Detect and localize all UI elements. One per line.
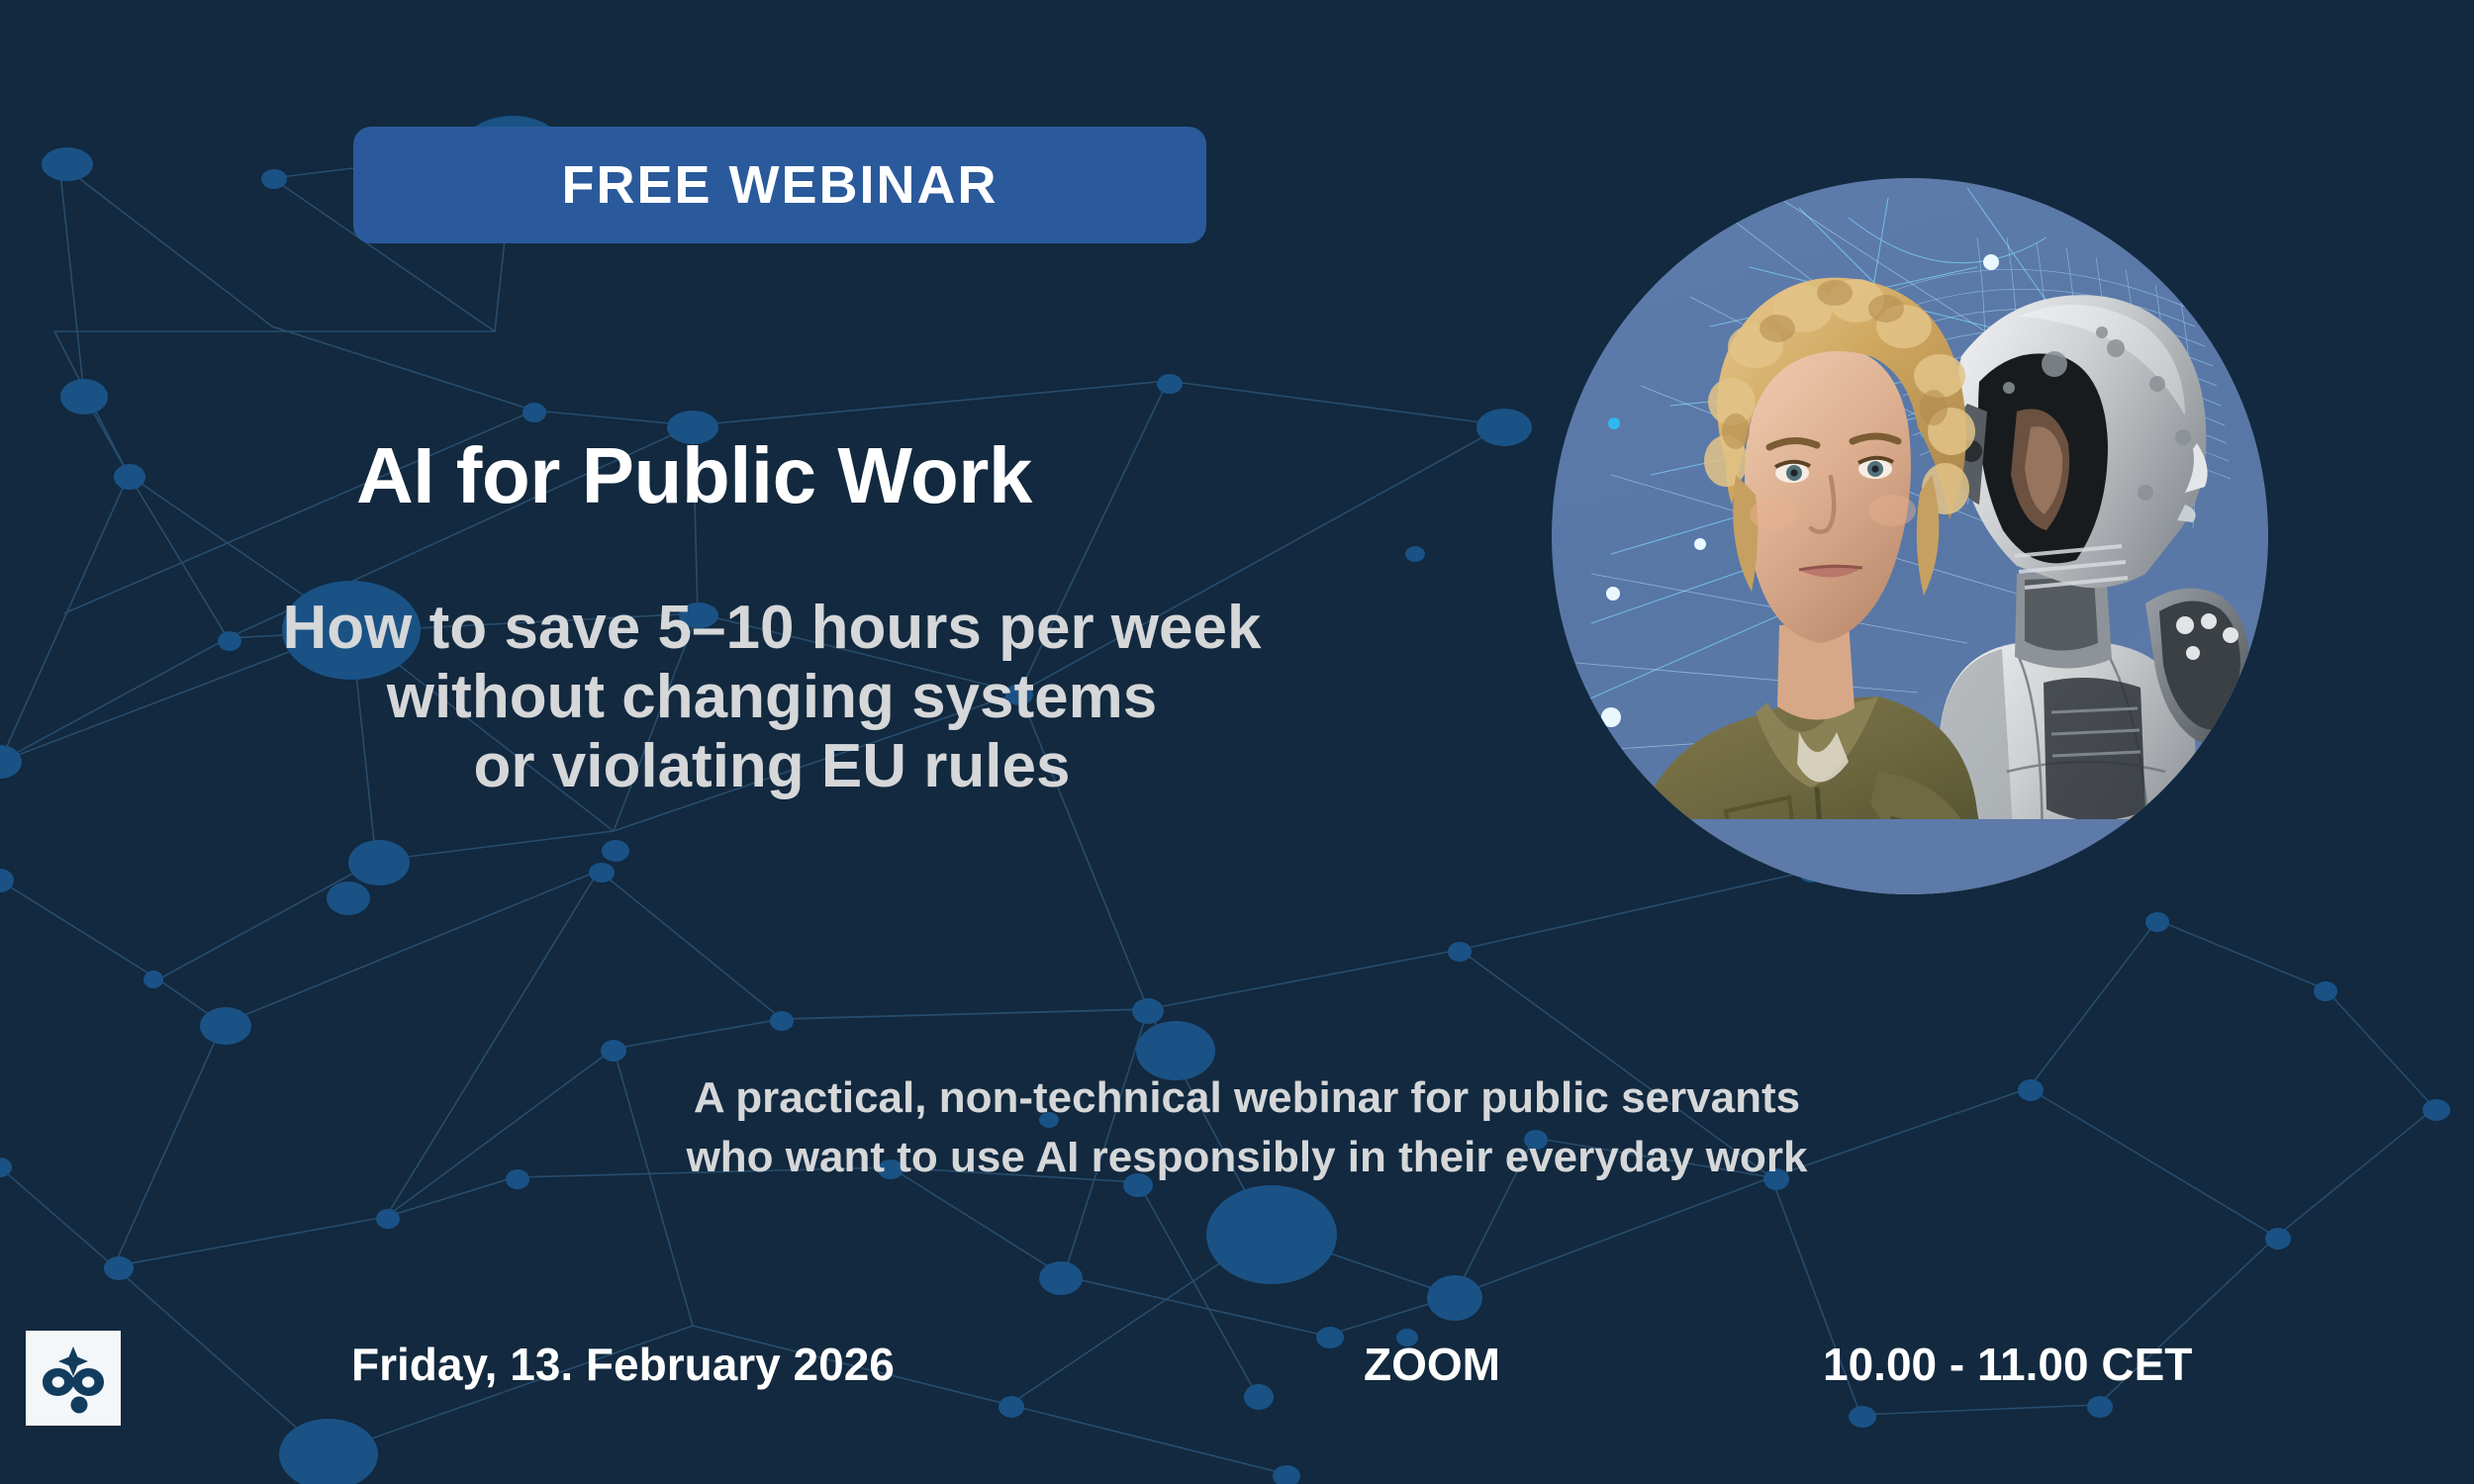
description-line-1: A practical, non-technical webinar for p…	[297, 1068, 2197, 1128]
subtitle-line-2: without changing systems	[119, 663, 1425, 732]
subtitle-line-1: How to save 5–10 hours per week	[119, 594, 1425, 663]
webinar-banner: FREE WEBINAR AI for Public Work How to s…	[0, 0, 2474, 1484]
infinity-sparkle-icon	[36, 1341, 111, 1416]
hero-photo-illustration	[1552, 178, 2268, 894]
webinar-hero-photo	[1552, 178, 2268, 894]
description-block: A practical, non-technical webinar for p…	[297, 1068, 2197, 1188]
subtitle-block: How to save 5–10 hours per week without …	[119, 594, 1425, 801]
description-line-2: who want to use AI responsibly in their …	[297, 1128, 2197, 1187]
event-date: Friday, 13. February 2026	[351, 1338, 895, 1391]
badge-label: FREE WEBINAR	[562, 154, 999, 216]
event-details-footer: Friday, 13. February 2026 ZOOM 10.00 - 1…	[0, 1338, 2474, 1407]
free-webinar-badge[interactable]: FREE WEBINAR	[353, 127, 1206, 243]
event-platform: ZOOM	[1364, 1338, 1500, 1391]
subtitle-line-3: or violating EU rules	[119, 732, 1425, 801]
brand-logo	[26, 1331, 121, 1426]
event-time: 10.00 - 11.00 CET	[1823, 1338, 2192, 1391]
page-title: AI for Public Work	[356, 430, 1032, 521]
